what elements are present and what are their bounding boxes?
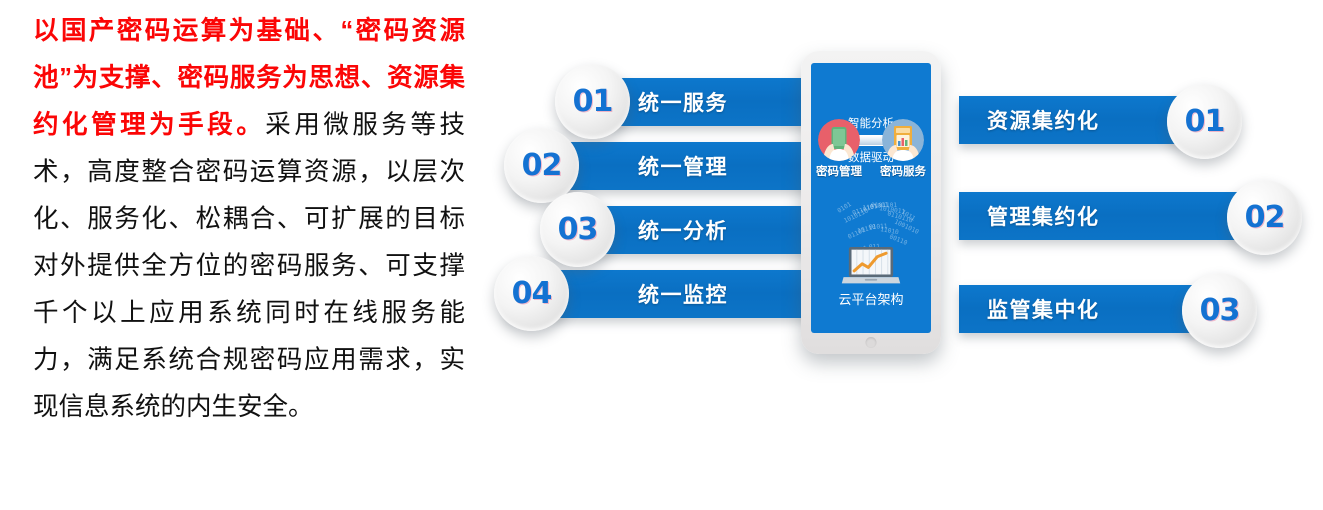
left-bar-1-label: 统一服务 bbox=[638, 87, 728, 117]
left-badge-4[interactable]: 04 bbox=[494, 256, 569, 331]
tablet-device: 1010110 0110101 1101001 0101101 1010011 … bbox=[801, 51, 941, 354]
left-bar-3-label: 统一分析 bbox=[638, 215, 728, 245]
svg-text:1001010: 1001010 bbox=[893, 218, 920, 235]
right-badge-3-number: 03 bbox=[1200, 293, 1240, 328]
svg-text:0101: 0101 bbox=[836, 201, 853, 215]
right-badge-1[interactable]: 01 bbox=[1167, 84, 1242, 159]
svg-text:1010011: 1010011 bbox=[879, 205, 906, 216]
svg-text:1010110: 1010110 bbox=[843, 207, 870, 224]
right-bar-1[interactable]: 资源集约化 bbox=[959, 96, 1189, 144]
right-bar-1-label: 资源集约化 bbox=[987, 105, 1100, 135]
left-badge-3-number: 03 bbox=[558, 212, 598, 247]
article-text-column: 以国产密码运算为基础、“密码资源池”为支撑、密码服务为思想、资源集约化管理为手段… bbox=[33, 8, 465, 431]
article-paragraph: 以国产密码运算为基础、“密码资源池”为支撑、密码服务为思想、资源集约化管理为手段… bbox=[33, 8, 465, 431]
left-badge-2[interactable]: 02 bbox=[504, 128, 579, 203]
left-badge-1-number: 01 bbox=[573, 84, 613, 119]
slide-canvas: 以国产密码运算为基础、“密码资源池”为支撑、密码服务为思想、资源集约化管理为手段… bbox=[0, 0, 1323, 510]
left-badge-4-number: 04 bbox=[512, 276, 552, 311]
right-badge-2-number: 02 bbox=[1245, 200, 1285, 235]
right-bar-3-label: 监管集中化 bbox=[987, 294, 1100, 324]
left-bar-4-label: 统一监控 bbox=[638, 279, 728, 309]
right-bar-2-label: 管理集约化 bbox=[987, 201, 1100, 231]
left-badge-1[interactable]: 01 bbox=[555, 64, 630, 139]
right-badge-3[interactable]: 03 bbox=[1182, 273, 1257, 348]
architecture-diagram: 统一服务 统一管理 统一分析 统一监控 01 02 03 04 资源集约化 管理… bbox=[470, 0, 1323, 510]
platform-caption: 云平台架构 bbox=[835, 291, 907, 308]
right-badge-1-number: 01 bbox=[1185, 104, 1225, 139]
crypto-service-caption: 密码服务 bbox=[880, 163, 926, 179]
right-bar-3[interactable]: 监管集中化 bbox=[959, 285, 1204, 333]
crypto-management-node: 密码管理 bbox=[818, 119, 860, 161]
svg-text:0101101: 0101101 bbox=[871, 202, 897, 209]
svg-text:0110110: 0110110 bbox=[886, 210, 913, 224]
laptop-chart-icon bbox=[840, 245, 902, 293]
article-body: 采用微服务等技术，高度整合密码运算资源，以层次化、服务化、松耦合、可扩展的目标对… bbox=[33, 111, 465, 421]
hands-holding-phone-icon bbox=[818, 119, 860, 161]
left-badge-3[interactable]: 03 bbox=[540, 192, 615, 267]
tablet-home-button[interactable] bbox=[866, 337, 877, 348]
left-badge-2-number: 02 bbox=[522, 148, 562, 183]
svg-text:0110101: 0110101 bbox=[852, 203, 879, 217]
crypto-management-caption: 密码管理 bbox=[816, 163, 862, 179]
right-bar-2[interactable]: 管理集约化 bbox=[959, 192, 1249, 240]
crypto-service-node: 密码服务 bbox=[882, 119, 924, 161]
svg-text:11010: 11010 bbox=[880, 226, 900, 236]
svg-text:1011: 1011 bbox=[900, 209, 917, 223]
svg-text:01101: 01101 bbox=[847, 226, 867, 240]
hands-holding-document-icon bbox=[882, 119, 924, 161]
tablet-screen: 1010110 0110101 1101001 0101101 1010011 … bbox=[811, 63, 931, 333]
svg-text:10110: 10110 bbox=[857, 224, 877, 235]
right-badge-2[interactable]: 02 bbox=[1227, 180, 1302, 255]
svg-text:01011: 01011 bbox=[869, 223, 888, 231]
svg-text:1101001: 1101001 bbox=[862, 201, 889, 212]
left-bar-2-label: 统一管理 bbox=[638, 151, 728, 181]
